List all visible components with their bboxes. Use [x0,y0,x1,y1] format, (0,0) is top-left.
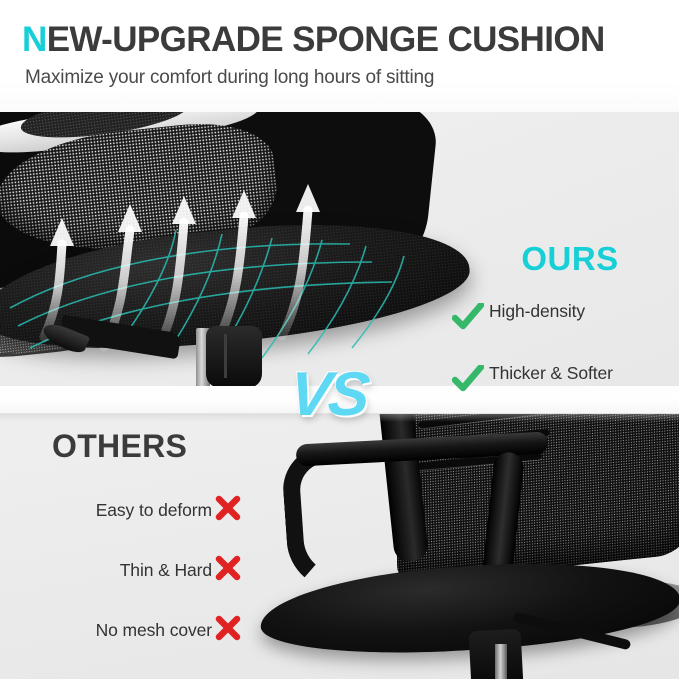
others-item-label: Easy to deform [96,500,212,521]
cross-icon [214,494,244,527]
list-item: Thicker & Softer [452,363,677,394]
others-panel: OTHERS Easy to deform Thin & Har [0,408,679,679]
infographic-page: NEW-UPGRADE SPONGE CUSHION Maximize your… [0,0,679,679]
ours-panel: OURS High-density [0,112,679,394]
page-title: NEW-UPGRADE SPONGE CUSHION [22,22,605,57]
others-chair-image [290,408,679,679]
title-accent-letter: N [22,20,47,59]
ours-chair-image [0,112,470,394]
ordinary-chair-gas-rod [495,644,507,679]
check-icon [452,303,484,336]
cross-icon [214,554,244,587]
vs-badge: VS [287,364,369,426]
page-subtitle: Maximize your comfort during long hours … [25,68,434,87]
list-item: Easy to deform [14,494,264,527]
list-item: High-density [452,301,677,336]
title-rest: EW-UPGRADE SPONGE CUSHION [47,20,605,59]
others-item-label: Thin & Hard [120,560,212,581]
ours-item-label: Thicker & Softer [484,363,613,384]
others-feature-column: OTHERS Easy to deform Thin & Har [14,430,264,674]
list-item: Thin & Hard [14,554,264,587]
others-heading: OTHERS [52,430,264,462]
ours-item-label: High-density [484,301,585,322]
ours-feature-column: OURS High-density [452,242,677,394]
ours-heading: OURS [490,242,650,275]
header-banner: NEW-UPGRADE SPONGE CUSHION Maximize your… [0,0,679,112]
others-feature-list: Easy to deform Thin & Hard [14,494,264,647]
check-icon [452,365,484,394]
others-item-label: No mesh cover [96,620,212,641]
list-item: No mesh cover [14,614,264,647]
cross-icon [214,614,244,647]
ours-feature-list: High-density Thicker & Softer [452,301,677,394]
chair-gas-housing [206,326,262,388]
